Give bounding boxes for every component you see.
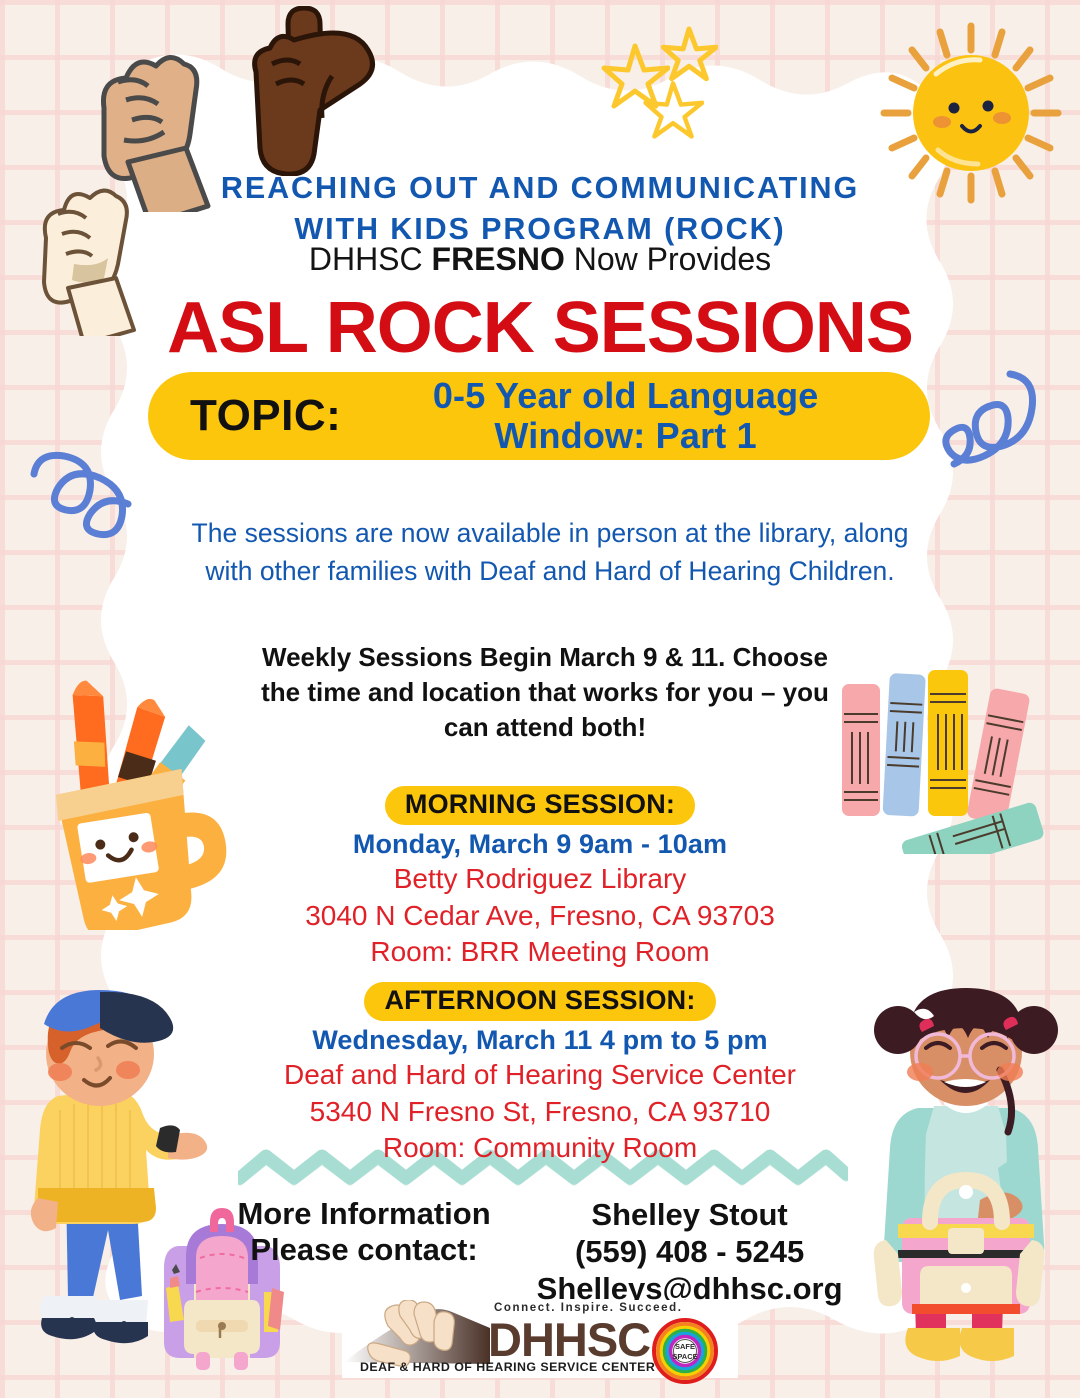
session-venue-afternoon: Deaf and Hard of Hearing Service Center bbox=[0, 1058, 1080, 1093]
contact-prompt-line2: Please contact: bbox=[237, 1232, 490, 1268]
contact-name: Shelley Stout bbox=[537, 1196, 843, 1233]
safe-space-badge-icon: SAFE SPACE bbox=[652, 1318, 718, 1384]
body-paragraph: The sessions are now available in person… bbox=[150, 515, 950, 590]
blue-swirl-right-icon bbox=[936, 356, 1066, 496]
contact-section: More Information Please contact: Shelley… bbox=[0, 1196, 1080, 1308]
session-room-afternoon: Room: Community Room bbox=[0, 1131, 1080, 1166]
session-address-morning: 3040 N Cedar Ave, Fresno, CA 93703 bbox=[0, 899, 1080, 934]
subheading: DHHSC FRESNO Now Provides bbox=[0, 240, 1080, 278]
contact-phone[interactable]: (559) 408 - 5245 bbox=[537, 1233, 843, 1270]
poster-canvas: REACHING OUT AND COMMUNICATING WITH KIDS… bbox=[0, 0, 1080, 1398]
topic-value-line1: 0-5 Year old Language bbox=[345, 376, 906, 416]
topic-label: TOPIC: bbox=[190, 391, 341, 441]
contact-prompt: More Information Please contact: bbox=[237, 1196, 490, 1268]
session-block-morning: MORNING SESSION: Monday, March 9 9am - 1… bbox=[0, 786, 1080, 970]
body-line2: with other families with Deaf and Hard o… bbox=[150, 553, 950, 591]
program-heading: REACHING OUT AND COMMUNICATING WITH KIDS… bbox=[0, 168, 1080, 249]
weekly-line2: the time and location that works for you… bbox=[210, 675, 880, 710]
weekly-line3: can attend both! bbox=[210, 710, 880, 745]
session-when-afternoon: Wednesday, March 11 4 pm to 5 pm bbox=[0, 1025, 1080, 1056]
session-block-afternoon: AFTERNOON SESSION: Wednesday, March 11 4… bbox=[0, 982, 1080, 1166]
topic-value: 0-5 Year old Language Window: Part 1 bbox=[345, 376, 906, 457]
subheading-post: Now Provides bbox=[565, 241, 771, 277]
subheading-city: FRESNO bbox=[432, 241, 565, 277]
program-heading-line1: REACHING OUT AND COMMUNICATING bbox=[0, 168, 1080, 209]
logo-wordmark: DHHSC bbox=[488, 1312, 650, 1367]
session-badge-afternoon: AFTERNOON SESSION: bbox=[364, 982, 715, 1021]
star-icon bbox=[660, 24, 718, 82]
session-when-morning: Monday, March 9 9am - 10am bbox=[0, 829, 1080, 860]
weekly-note: Weekly Sessions Begin March 9 & 11. Choo… bbox=[210, 640, 880, 745]
safe-space-line1: SAFE bbox=[675, 1342, 695, 1351]
blue-swirl-left-icon bbox=[26, 444, 156, 564]
contact-details: Shelley Stout (559) 408 - 5245 Shelleys@… bbox=[537, 1196, 843, 1308]
star-icon bbox=[642, 78, 704, 140]
session-room-morning: Room: BRR Meeting Room bbox=[0, 935, 1080, 970]
session-address-afternoon: 5340 N Fresno St, Fresno, CA 93710 bbox=[0, 1095, 1080, 1130]
weekly-line1: Weekly Sessions Begin March 9 & 11. Choo… bbox=[210, 640, 880, 675]
safe-space-line2: SPACE bbox=[672, 1352, 697, 1361]
contact-prompt-line1: More Information bbox=[237, 1196, 490, 1232]
poster-title: ASL ROCK SESSIONS bbox=[0, 292, 1080, 364]
session-venue-morning: Betty Rodriguez Library bbox=[0, 862, 1080, 897]
subheading-pre: DHHSC bbox=[309, 241, 432, 277]
body-line1: The sessions are now available in person… bbox=[150, 515, 950, 553]
topic-value-line2: Window: Part 1 bbox=[345, 416, 906, 456]
topic-banner: TOPIC: 0-5 Year old Language Window: Par… bbox=[148, 372, 930, 460]
asl-l-hand-dark-icon bbox=[236, 6, 386, 176]
star-icon bbox=[600, 40, 670, 110]
logo-footer-text: DEAF & HARD OF HEARING SERVICE CENTER bbox=[360, 1360, 655, 1374]
session-badge-morning: MORNING SESSION: bbox=[385, 786, 695, 825]
